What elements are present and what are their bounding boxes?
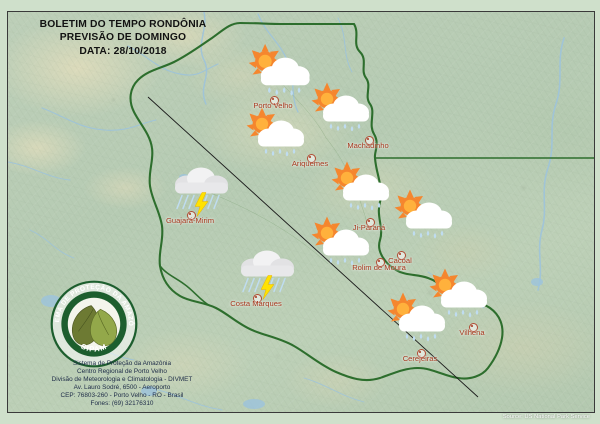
title-line-2: PREVISÃO DE DOMINGO xyxy=(18,31,228,44)
title-line-1: BOLETIM DO TEMPO RONDÔNIA xyxy=(18,18,228,31)
rain-drops xyxy=(265,149,296,157)
storm-cloud-icon xyxy=(241,251,294,277)
city-costa-marques[interactable]: Costa Marques xyxy=(252,293,260,301)
city-ji-paran-[interactable]: Ji-Paraná xyxy=(365,217,373,225)
footer-line-4: Av. Lauro Sodré, 6500 - Aeroporto xyxy=(8,384,236,392)
rain-drops xyxy=(406,334,437,342)
weather-icon-cacoal xyxy=(393,189,457,246)
footer-line-1: Sistema de Proteção da Amazônia xyxy=(8,360,236,368)
city-machadinho[interactable]: Machadinho xyxy=(364,135,372,143)
city-label-porto-velho: Porto Velho xyxy=(253,101,292,110)
weather-icon-costa-marques xyxy=(237,248,301,307)
city-label-machadinho: Machadinho xyxy=(347,141,388,150)
rain-drops xyxy=(413,231,444,239)
city-ariquemes[interactable]: Ariquemes xyxy=(306,153,314,161)
footer-line-5: CEP: 76803-260 - Porto Velho - RO - Bras… xyxy=(8,392,236,400)
page-title: BOLETIM DO TEMPO RONDÔNIA PREVISÃO DE DO… xyxy=(18,18,228,58)
city-cerejeiras[interactable]: Cerejeiras xyxy=(416,348,424,356)
city-vilhena[interactable]: Vilhena xyxy=(468,322,476,330)
city-cacoal[interactable]: Cacoal xyxy=(396,250,404,258)
weather-icon-machadinho xyxy=(310,82,374,139)
city-label-costa-marques: Costa Marques xyxy=(230,299,282,308)
storm-cloud-icon xyxy=(175,168,228,194)
city-label-cerejeiras: Cerejeiras xyxy=(403,354,438,363)
weather-icon-ariquemes xyxy=(245,107,309,164)
city-guajar-mirim[interactable]: Guajará-Mirim xyxy=(186,210,194,218)
source-credit: Source: US National Park Service xyxy=(503,414,590,420)
title-line-3: DATA: 28/10/2018 xyxy=(18,45,228,58)
rain-drops xyxy=(350,203,381,211)
footer-line-2: Centro Regional de Porto Velho xyxy=(8,368,236,376)
footer-line-6: Fones: (69) 32176310 xyxy=(8,400,236,408)
weather-icon-guajar-mirim xyxy=(171,165,235,224)
city-label-vilhena: Vilhena xyxy=(459,328,484,337)
weather-bulletin-map: BOLETIM DO TEMPO RONDÔNIA PREVISÃO DE DO… xyxy=(0,0,600,424)
city-label-ji-paran-: Ji-Paraná xyxy=(353,223,386,232)
footer-line-3: Divisão de Meteorologia e Climatologia -… xyxy=(8,376,236,384)
city-label-ariquemes: Ariquemes xyxy=(292,159,328,168)
city-porto-velho[interactable]: Porto Velho xyxy=(269,95,277,103)
footer-contact-block: Sistema de Proteção da Amazônia Centro R… xyxy=(8,360,236,407)
weather-icon-ji-paran- xyxy=(330,161,394,218)
rain-drops xyxy=(330,124,361,132)
weather-icon-cerejeiras xyxy=(386,292,450,349)
rain-drops xyxy=(448,310,479,318)
city-label-guajar-mirim: Guajará-Mirim xyxy=(166,216,214,225)
city-rolim-de-moura[interactable]: Rolim de Moura xyxy=(375,257,383,265)
weather-icon-porto-velho xyxy=(247,43,315,103)
sipam-logo: SISTEMA DE PROTEÇÃO DA AMAZÔNIA SIPAM xyxy=(48,278,140,370)
city-label-rolim-de-moura: Rolim de Moura xyxy=(352,263,406,272)
